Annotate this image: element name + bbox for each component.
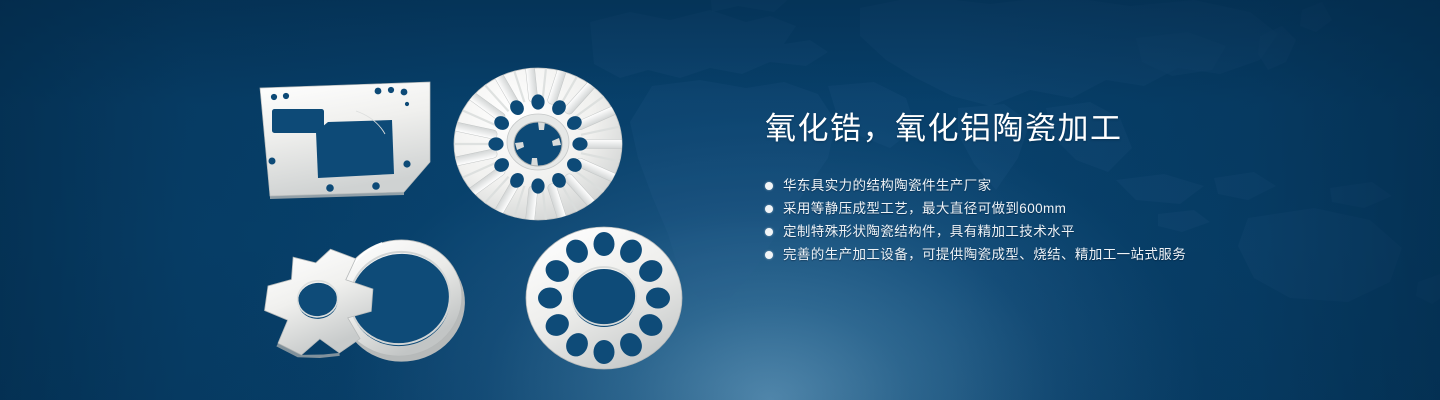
ceramic-machined-plate-image <box>252 78 438 202</box>
ceramic-holed-disc-image <box>518 222 690 374</box>
ceramic-vaned-impeller-image <box>446 48 630 232</box>
list-item-label: 采用等静压成型工艺，最大直径可做到600mm <box>783 197 1066 220</box>
list-item: 华东具实力的结构陶瓷件生产厂家 <box>765 174 1365 197</box>
banner-copy: 氧化锆，氧化铝陶瓷加工 华东具实力的结构陶瓷件生产厂家 采用等静压成型工艺，最大… <box>765 108 1365 266</box>
ceramic-cross-part-and-ring-image <box>248 224 514 372</box>
bullet-dot-icon <box>765 251 773 259</box>
list-item: 完善的生产加工设备，可提供陶瓷成型、烧结、精加工一站式服务 <box>765 243 1365 266</box>
list-item: 定制特殊形状陶瓷结构件，具有精加工技术水平 <box>765 220 1365 243</box>
list-item: 采用等静压成型工艺，最大直径可做到600mm <box>765 197 1365 220</box>
list-item-label: 完善的生产加工设备，可提供陶瓷成型、烧结、精加工一站式服务 <box>783 243 1186 266</box>
bullet-dot-icon <box>765 205 773 213</box>
list-item-label: 定制特殊形状陶瓷结构件，具有精加工技术水平 <box>783 220 1075 243</box>
bullet-dot-icon <box>765 228 773 236</box>
bullet-dot-icon <box>765 182 773 190</box>
page-title: 氧化锆，氧化铝陶瓷加工 <box>765 108 1365 150</box>
list-item-label: 华东具实力的结构陶瓷件生产厂家 <box>783 174 992 197</box>
hero-banner: 氧化锆，氧化铝陶瓷加工 华东具实力的结构陶瓷件生产厂家 采用等静压成型工艺，最大… <box>0 0 1440 400</box>
feature-bullet-list: 华东具实力的结构陶瓷件生产厂家 采用等静压成型工艺，最大直径可做到600mm 定… <box>765 174 1365 266</box>
